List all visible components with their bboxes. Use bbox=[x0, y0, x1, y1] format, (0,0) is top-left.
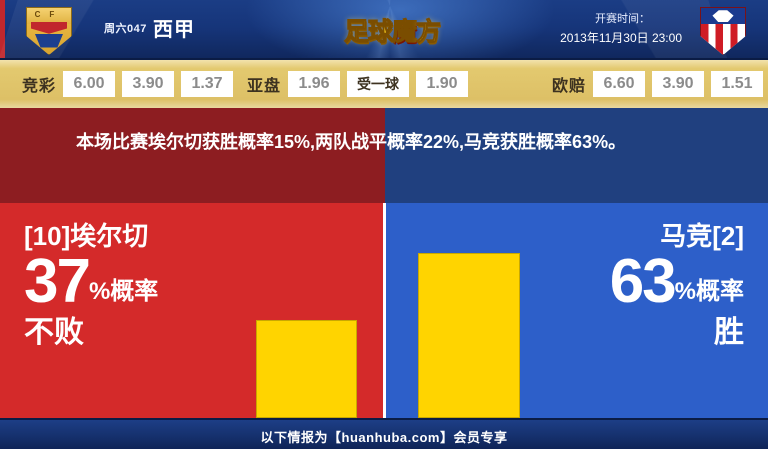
odds-cell-draw[interactable]: 3.90 bbox=[122, 71, 174, 97]
logo-text-mo: 魔 bbox=[392, 17, 416, 46]
odds-group-label: 亚盘 bbox=[247, 72, 281, 96]
away-panel: 马竞[2] 63 %概率 胜 bbox=[386, 203, 768, 418]
footer-bar: 以下情报为【huanhuba.com】会员专享 bbox=[0, 418, 768, 449]
handicap-odds-home[interactable]: 1.96 bbox=[288, 71, 340, 97]
summary-banner: 本场比赛埃尔切获胜概率15%,两队战平概率22%,马竞获胜概率63%。 bbox=[0, 108, 768, 203]
logo-text-part1: 足球 bbox=[344, 17, 392, 46]
away-probability-value: 63 bbox=[610, 253, 675, 311]
home-stats: [10]埃尔切 37 %概率 不败 bbox=[24, 221, 254, 351]
home-panel: [10]埃尔切 37 %概率 不败 bbox=[0, 203, 383, 418]
odds-bar: 竞彩 6.00 3.90 1.37 亚盘 1.96 受一球 1.90 欧赔 6.… bbox=[0, 60, 768, 108]
kickoff-time-label: 开赛时间： bbox=[595, 10, 650, 26]
match-probability-infographic: CF 周六047 西甲 足球魔方 开赛时间： 2013年11月30日 23:00 bbox=[0, 0, 768, 449]
away-stats: 马竞[2] 63 %概率 胜 bbox=[494, 221, 744, 351]
home-probability-suffix: %概率 bbox=[89, 277, 158, 311]
home-probability-bar bbox=[256, 320, 357, 418]
home-outcome-label: 不败 bbox=[24, 315, 254, 351]
league-name: 西甲 bbox=[153, 13, 195, 42]
summary-text: 本场比赛埃尔切获胜概率15%,两队战平概率22%,马竞获胜概率63%。 bbox=[76, 127, 726, 157]
euro-odds-draw[interactable]: 3.90 bbox=[652, 71, 704, 97]
home-team-crest-icon: CF bbox=[26, 7, 70, 53]
odds-group-european: 欧赔 6.60 3.90 1.51 bbox=[552, 60, 763, 108]
odds-group-label: 竞彩 bbox=[22, 72, 56, 96]
odds-group-jingcai: 竞彩 6.00 3.90 1.37 bbox=[22, 60, 233, 108]
away-team-crest-icon bbox=[700, 7, 744, 53]
away-probability-suffix: %概率 bbox=[675, 277, 744, 311]
handicap-line[interactable]: 受一球 bbox=[347, 71, 409, 97]
header-bar: CF 周六047 西甲 足球魔方 开赛时间： 2013年11月30日 23:00 bbox=[0, 0, 768, 60]
footer-notice: 以下情报为【huanhuba.com】会员专享 bbox=[0, 427, 768, 446]
euro-odds-home[interactable]: 6.60 bbox=[593, 71, 645, 97]
odds-cell-away[interactable]: 1.37 bbox=[181, 71, 233, 97]
site-logo[interactable]: 足球魔方 bbox=[332, 8, 452, 50]
home-probability-value: 37 bbox=[24, 253, 89, 311]
kickoff-time-value: 2013年11月30日 23:00 bbox=[560, 29, 682, 46]
odds-cell-home[interactable]: 6.00 bbox=[63, 71, 115, 97]
probability-chart-area: [10]埃尔切 37 %概率 不败 马竞[2] 63 %概率 胜 bbox=[0, 203, 768, 418]
logo-text-part2: 方 bbox=[416, 17, 440, 46]
euro-odds-away[interactable]: 1.51 bbox=[711, 71, 763, 97]
match-round-label: 周六047 bbox=[104, 20, 147, 36]
handicap-odds-away[interactable]: 1.90 bbox=[416, 71, 468, 97]
away-outcome-label: 胜 bbox=[494, 315, 744, 351]
odds-group-label: 欧赔 bbox=[552, 72, 586, 96]
odds-group-asian-handicap: 亚盘 1.96 受一球 1.90 bbox=[247, 60, 468, 108]
